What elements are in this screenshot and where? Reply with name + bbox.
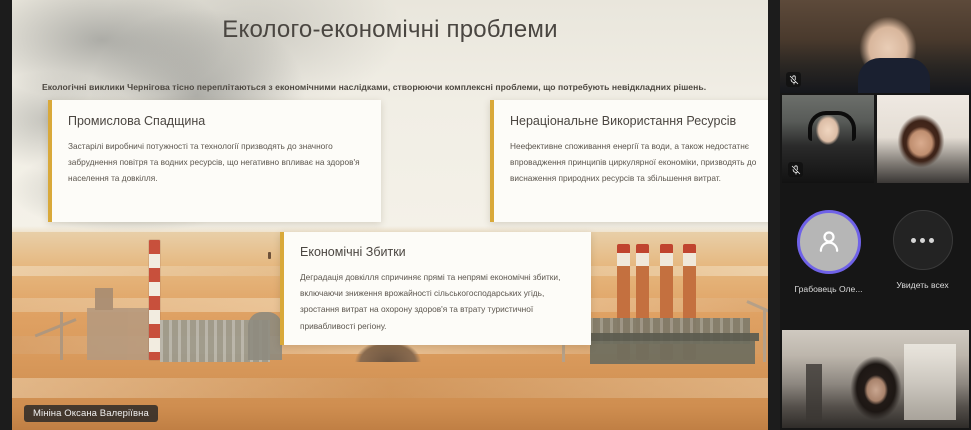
mic-off-icon	[786, 72, 801, 87]
card-body: Деградація довкілля спричиняє прямі та н…	[300, 269, 575, 334]
figure-silhouette	[268, 252, 271, 259]
participant-video-tile-2[interactable]	[782, 95, 874, 183]
card-heading: Промислова Спадщина	[68, 114, 365, 128]
construction-crane-icon	[745, 300, 768, 362]
see-all-label: Увидеть всех	[888, 280, 958, 290]
shared-content-stage: Еколого-економічні проблеми Екологічні в…	[0, 0, 780, 430]
participant-video-tile-3[interactable]	[877, 95, 969, 183]
card-body: Застарілі виробничі потужності та технол…	[68, 138, 365, 187]
slide-subtitle: Екологічні виклики Чернігова тісно переп…	[42, 82, 742, 92]
card-body: Неефективне споживання енергії та води, …	[510, 138, 768, 187]
ellipsis-icon	[893, 210, 953, 270]
mic-off-icon	[788, 162, 803, 177]
participant-video-tile-4[interactable]	[782, 330, 969, 428]
factory-shed	[590, 340, 755, 364]
problem-card-economic-damage: Економічні Збитки Деградація довкілля сп…	[280, 232, 591, 345]
see-all-participants-button[interactable]: Увидеть всех	[888, 210, 958, 320]
participant-video-tile-1[interactable]	[780, 0, 971, 93]
problem-card-industrial-heritage: Промислова Спадщина Застарілі виробничі …	[48, 100, 381, 222]
participant-name-label: Грабовець Оле...	[794, 284, 864, 294]
problem-card-resource-use: Нераціональне Використання Ресурсів Нееф…	[490, 100, 768, 222]
conference-screen-share-view: Еколого-економічні проблеми Екологічні в…	[0, 0, 971, 430]
participant-avatar-tile[interactable]: Грабовець Оле...	[794, 210, 864, 320]
ground-band	[12, 378, 768, 398]
card-heading: Економічні Збитки	[300, 245, 575, 259]
card-heading: Нераціональне Використання Ресурсів	[510, 114, 768, 128]
presentation-slide: Еколого-економічні проблеми Екологічні в…	[12, 0, 768, 430]
participant-video-row	[780, 95, 971, 185]
slide-title: Еколого-економічні проблеми	[12, 16, 768, 44]
person-avatar-icon	[797, 210, 861, 274]
participants-avatar-row: Грабовець Оле... Увидеть всех	[780, 192, 971, 320]
participants-rail[interactable]: Грабовець Оле... Увидеть всех	[780, 0, 971, 430]
presenter-name-chip: Мініна Оксана Валеріївна	[24, 405, 158, 422]
